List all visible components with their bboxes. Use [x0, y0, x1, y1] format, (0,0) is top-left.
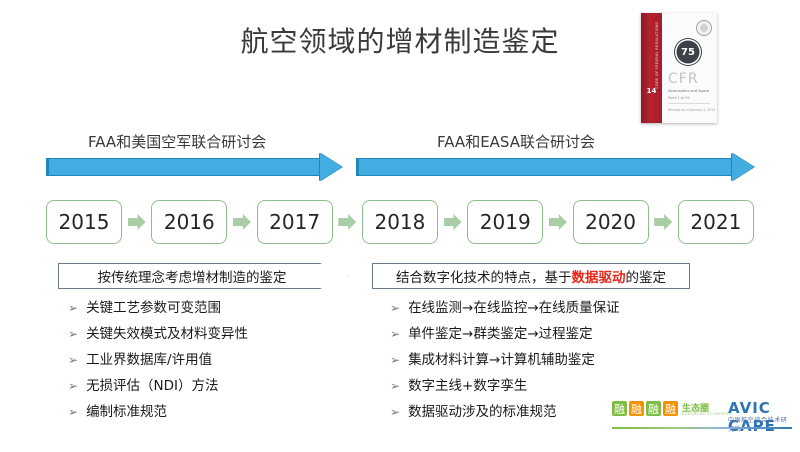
bullet-arrow-icon: ➢	[390, 404, 400, 420]
bullet-arrow-icon: ➢	[68, 300, 78, 316]
book-spine-text: CODE OF FEDERAL REGULATIONS	[655, 13, 659, 97]
bullet-arrow-icon: ➢	[68, 378, 78, 394]
list-item: ➢ 在线监测→在线监控→在线质量保证	[390, 300, 710, 316]
book-divider	[668, 103, 710, 104]
chevron-right-icon	[128, 214, 146, 230]
list-item-label: 关键工艺参数可变范围	[86, 300, 221, 316]
list-item: ➢ 关键失效模式及材料变异性	[68, 326, 358, 342]
logo-char-1: 融	[612, 401, 627, 416]
logo-char-4: 融	[663, 401, 678, 416]
band-label-faa-easa: FAA和EASA联合研讨会	[437, 131, 595, 152]
footer-logo-group: 融 融 融 融 生态圈 RONGRONG ECOSYSTEM AVIC CAPE…	[612, 399, 792, 433]
banner-text-prefix: 结合数字化技术的特点，基于	[396, 266, 572, 286]
chevron-right-icon	[654, 214, 672, 230]
slide-canvas: 航空领域的增材制造鉴定 CODE OF FEDERAL REGULATIONS …	[0, 0, 800, 452]
bullet-arrow-icon: ➢	[68, 352, 78, 368]
blue-arrow-phase-2	[356, 153, 754, 181]
list-item: ➢ 工业界数据库/许用值	[68, 352, 358, 368]
chevron-right-icon	[338, 214, 356, 230]
list-item-label: 工业界数据库/许用值	[86, 352, 212, 368]
book-subtitle-1: Aeronautics and Space	[668, 89, 709, 93]
arrow-head-icon	[320, 153, 342, 181]
bullet-arrow-icon: ➢	[390, 378, 400, 394]
bullet-arrow-icon: ➢	[390, 300, 400, 316]
bullet-list-traditional: ➢ 关键工艺参数可变范围 ➢ 关键失效模式及材料变异性 ➢ 工业界数据库/许用值…	[68, 300, 358, 430]
arrow-head-icon	[732, 153, 754, 181]
year-box[interactable]: 2015	[46, 200, 122, 244]
book-subtitle-2: Parts 1 to 59	[668, 96, 690, 100]
anniversary-seal-badge: 75	[675, 39, 701, 65]
ecosystem-label-en: RONGRONG ECOSYSTEM	[682, 412, 732, 416]
logo-char-3: 融	[646, 401, 661, 416]
book-volume-number: 14	[641, 87, 662, 95]
year-box[interactable]: 2019	[467, 200, 543, 244]
banner-text-suffix: 的鉴定	[626, 266, 667, 286]
year-timeline: 2015 2016 2017 2018 2019 2020 2021	[46, 198, 754, 246]
bullet-arrow-icon: ➢	[390, 352, 400, 368]
year-box[interactable]: 2020	[573, 200, 649, 244]
list-item: ➢ 关键工艺参数可变范围	[68, 300, 358, 316]
bullet-arrow-icon: ➢	[68, 326, 78, 342]
list-item-label: 数据驱动涉及的标准规范	[408, 404, 557, 420]
avic-cape-logo-cn: 中国航空综合技术研究所	[728, 415, 792, 433]
year-box[interactable]: 2016	[151, 200, 227, 244]
list-item-label: 关键失效模式及材料变异性	[86, 326, 248, 342]
list-item-label: 集成材料计算→计算机辅助鉴定	[408, 352, 595, 368]
list-item-label: 单件鉴定→群类鉴定→过程鉴定	[408, 326, 593, 342]
year-box[interactable]: 2017	[257, 200, 333, 244]
book-front: 75 CFR Aeronautics and Space Parts 1 to …	[662, 13, 717, 123]
federal-seal-icon	[696, 20, 712, 36]
list-item: ➢ 集成材料计算→计算机辅助鉴定	[390, 352, 710, 368]
logo-underline	[612, 427, 792, 429]
band-label-faa-usaf: FAA和美国空军联合研讨会	[88, 131, 266, 152]
blue-arrow-phase-1	[46, 153, 342, 181]
cfr-book-cover-image: CODE OF FEDERAL REGULATIONS 14 75 CFR Ae…	[641, 13, 717, 123]
list-item: ➢ 数字主线+数字孪生	[390, 378, 710, 394]
arrow-shaft	[46, 158, 320, 176]
list-item: ➢ 编制标准规范	[68, 404, 358, 420]
arrow-shaft	[356, 158, 732, 176]
banner-text-highlight: 数据驱动	[572, 266, 626, 286]
bullet-arrow-icon: ➢	[390, 326, 400, 342]
list-item: ➢ 无损评估（NDI）方法	[68, 378, 358, 394]
banner-traditional-approach: 按传统理念考虑增材制造的鉴定	[58, 263, 348, 289]
list-item-label: 无损评估（NDI）方法	[86, 378, 218, 394]
year-box[interactable]: 2021	[678, 200, 754, 244]
rongrong-logo-icon: 融 融 融 融	[612, 401, 678, 416]
bullet-arrow-icon: ➢	[68, 404, 78, 420]
banner-digital-approach: 结合数字化技术的特点，基于数据驱动的鉴定	[372, 263, 690, 289]
chevron-right-icon	[233, 214, 251, 230]
list-item-label: 在线监测→在线监控→在线质量保证	[408, 300, 620, 316]
book-acronym: CFR	[668, 71, 699, 87]
year-box[interactable]: 2018	[362, 200, 438, 244]
chevron-right-icon	[549, 214, 567, 230]
list-item: ➢ 单件鉴定→群类鉴定→过程鉴定	[390, 326, 710, 342]
list-item-label: 编制标准规范	[86, 404, 167, 420]
logo-char-2: 融	[629, 401, 644, 416]
chevron-right-icon	[444, 214, 462, 230]
book-subtitle-3: Revised as of January 1, 2013	[668, 108, 715, 112]
book-spine: CODE OF FEDERAL REGULATIONS 14	[641, 13, 662, 123]
list-item-label: 数字主线+数字孪生	[408, 378, 527, 394]
